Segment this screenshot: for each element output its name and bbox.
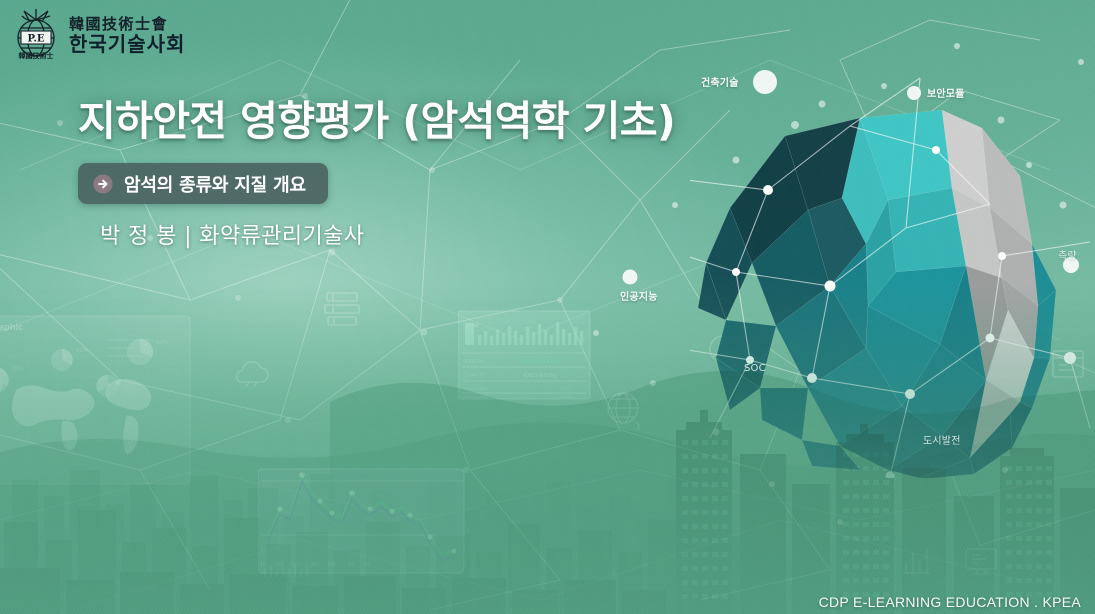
- subtitle-text: 암석의 종류와 지질 개요: [124, 171, 306, 197]
- logo-korean-text: 한국기술사회: [69, 34, 185, 55]
- network-node-label: 건축기술: [701, 74, 739, 89]
- cityscape-photo: [0, 284, 1095, 614]
- presenter-name: 박 정 봉 | 화약류관리기술사: [100, 218, 778, 250]
- title-block: 지하안전 영향평가 (암석역학 기초) 암석의 종류와 지질 개요 박 정 봉 …: [78, 98, 778, 250]
- network-node-label: 도시발전: [923, 432, 961, 447]
- pe-globe-emblem-icon: P.E 韓國技術士: [10, 8, 62, 64]
- subtitle-pill: 암석의 종류와 지질 개요: [78, 163, 328, 204]
- circle-arrow-right-icon: [93, 174, 113, 194]
- network-node-label: 보안모듈: [927, 85, 965, 100]
- logo-hanja-text: 韓國技術士會: [69, 17, 185, 33]
- footer-credit: CDP E-LEARNING EDUCATION . KPEA: [819, 594, 1081, 610]
- network-node-label: SOC: [744, 363, 766, 374]
- title-slide: Infographic 35%41% 27%62%: [0, 0, 1095, 614]
- page-title: 지하안전 영향평가 (암석역학 기초): [78, 98, 778, 145]
- kpea-logo: P.E 韓國技術士 韓國技術士會 한국기술사회: [10, 8, 185, 64]
- svg-text:P.E: P.E: [28, 34, 45, 45]
- network-node-label: 측량: [1058, 247, 1077, 262]
- svg-text:韓國技術士: 韓國技術士: [19, 51, 54, 60]
- network-node-label: 인공지능: [620, 288, 658, 303]
